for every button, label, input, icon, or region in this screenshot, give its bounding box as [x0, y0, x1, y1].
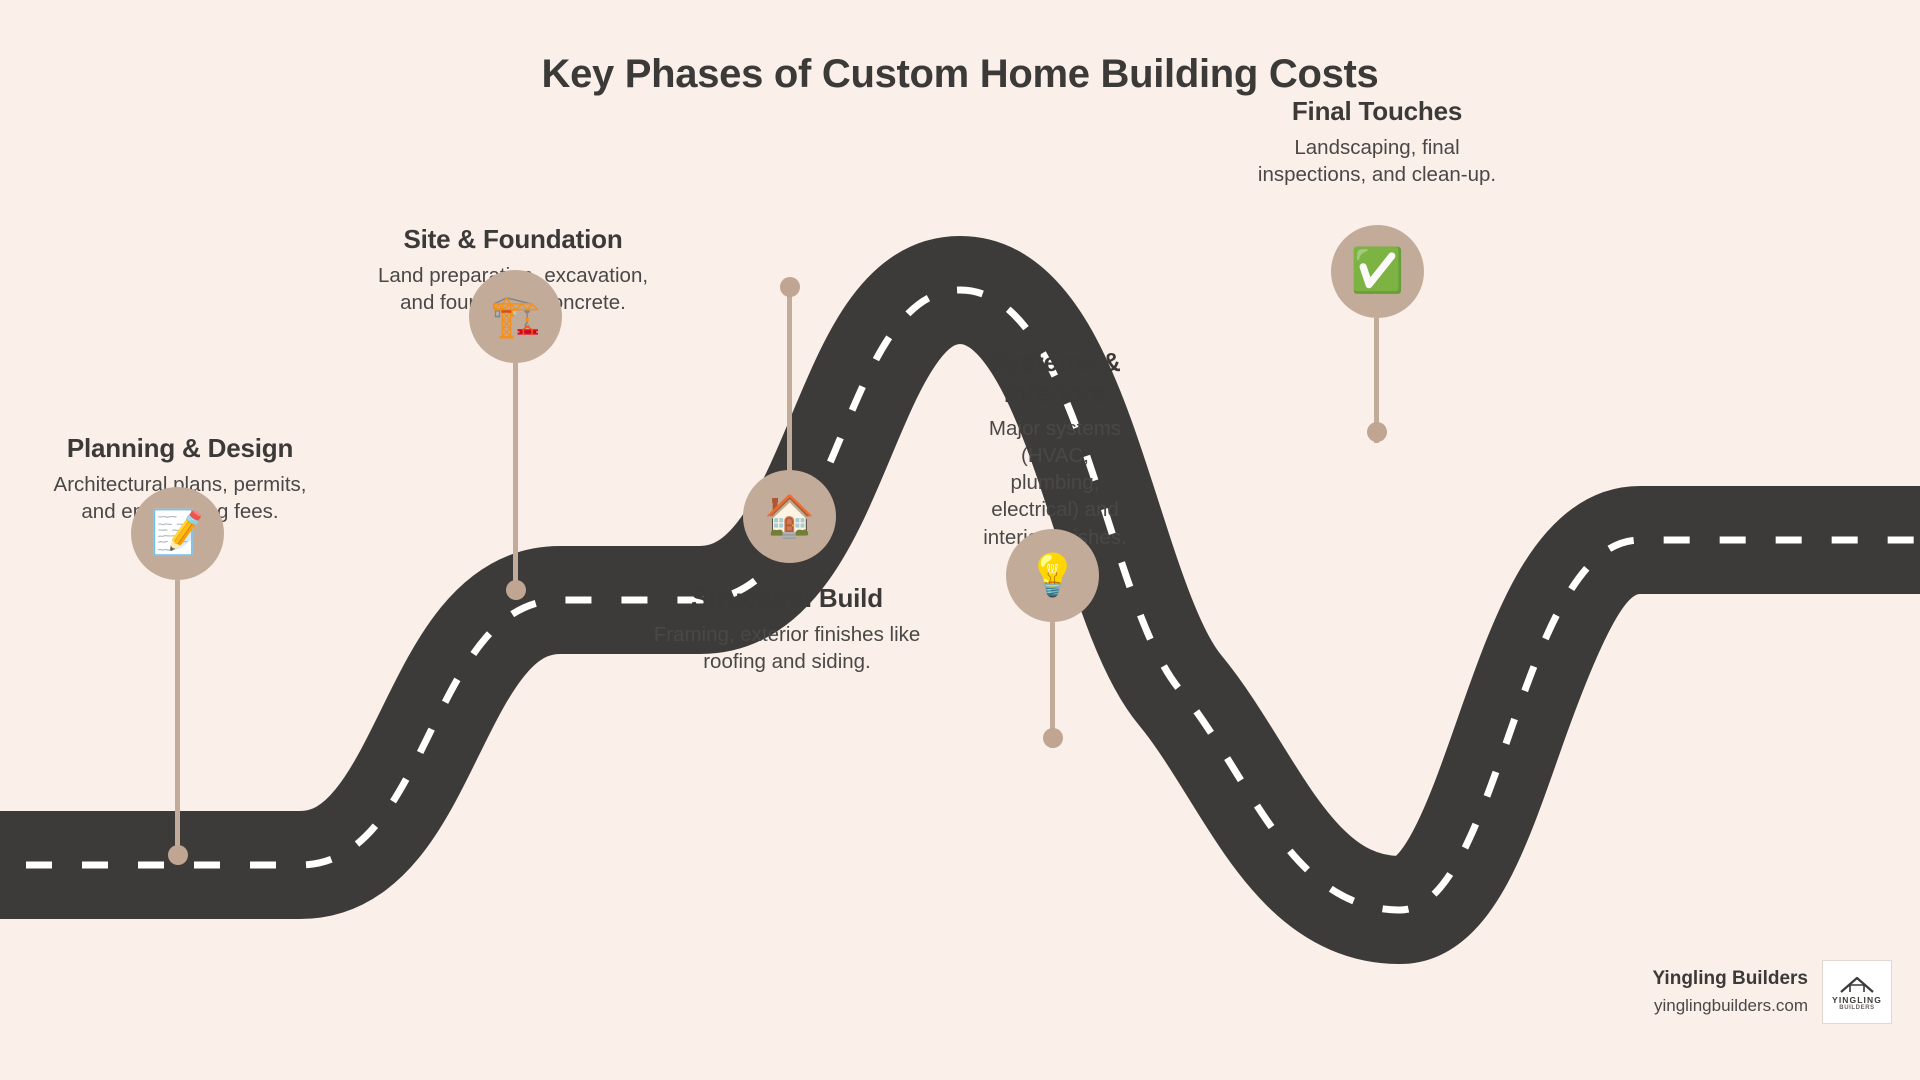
roof-house-icon — [1837, 973, 1877, 993]
phase-marker-structural-build[interactable]: 🏠 — [743, 470, 836, 563]
phase-marker-final-touches[interactable]: ✅ — [1331, 225, 1424, 318]
infographic-canvas: Key Phases of Custom Home Building Costs… — [0, 0, 1920, 1080]
memo-icon: 📝 — [151, 512, 205, 555]
brand-logo-line2: BUILDERS — [1839, 1005, 1874, 1011]
phase-title: Structural Build — [642, 583, 932, 614]
phase-road-dot — [506, 580, 526, 600]
lightbulb-icon: 💡 — [1027, 555, 1078, 596]
phase-label-structural-build: Structural Build Framing, exterior finis… — [642, 583, 932, 675]
phase-title: Site & Foundation — [368, 224, 658, 255]
crane-icon: 🏗️ — [490, 296, 541, 337]
phase-title: Final Touches — [1243, 96, 1511, 127]
phase-stem — [787, 290, 792, 482]
phase-label-systems-interiors: Systems & Interiors Major systems (HVAC,… — [975, 347, 1135, 551]
phase-title: Planning & Design — [40, 433, 320, 464]
brand-name: Yingling Builders — [1652, 967, 1808, 992]
phase-road-dot — [1367, 422, 1387, 442]
phase-stem — [175, 580, 180, 858]
brand-logo: YINGLING BUILDERS — [1822, 960, 1892, 1024]
phase-marker-planning-design[interactable]: 📝 — [131, 487, 224, 580]
brand-logo-line1: YINGLING — [1832, 995, 1882, 1005]
phase-description: Landscaping, final inspections, and clea… — [1243, 134, 1511, 188]
phase-road-dot — [1043, 728, 1063, 748]
house-icon: 🏠 — [764, 496, 815, 537]
phase-stem — [1050, 600, 1055, 748]
phase-marker-systems-interiors[interactable]: 💡 — [1006, 529, 1099, 622]
phase-marker-site-foundation[interactable]: 🏗️ — [469, 270, 562, 363]
road-graphic — [0, 0, 1920, 1080]
brand-footer: Yingling Builders yinglingbuilders.com Y… — [1652, 960, 1892, 1024]
phase-road-dot — [168, 845, 188, 865]
phase-road-dot — [780, 277, 800, 297]
phase-title: Systems & Interiors — [975, 347, 1135, 408]
phase-stem — [513, 363, 518, 593]
check-mark-icon: ✅ — [1351, 250, 1405, 293]
phase-description: Framing, exterior finishes like roofing … — [642, 621, 932, 675]
brand-text: Yingling Builders yinglingbuilders.com — [1652, 967, 1808, 1017]
phase-label-final-touches: Final Touches Landscaping, final inspect… — [1243, 96, 1511, 188]
brand-url[interactable]: yinglingbuilders.com — [1652, 995, 1808, 1017]
